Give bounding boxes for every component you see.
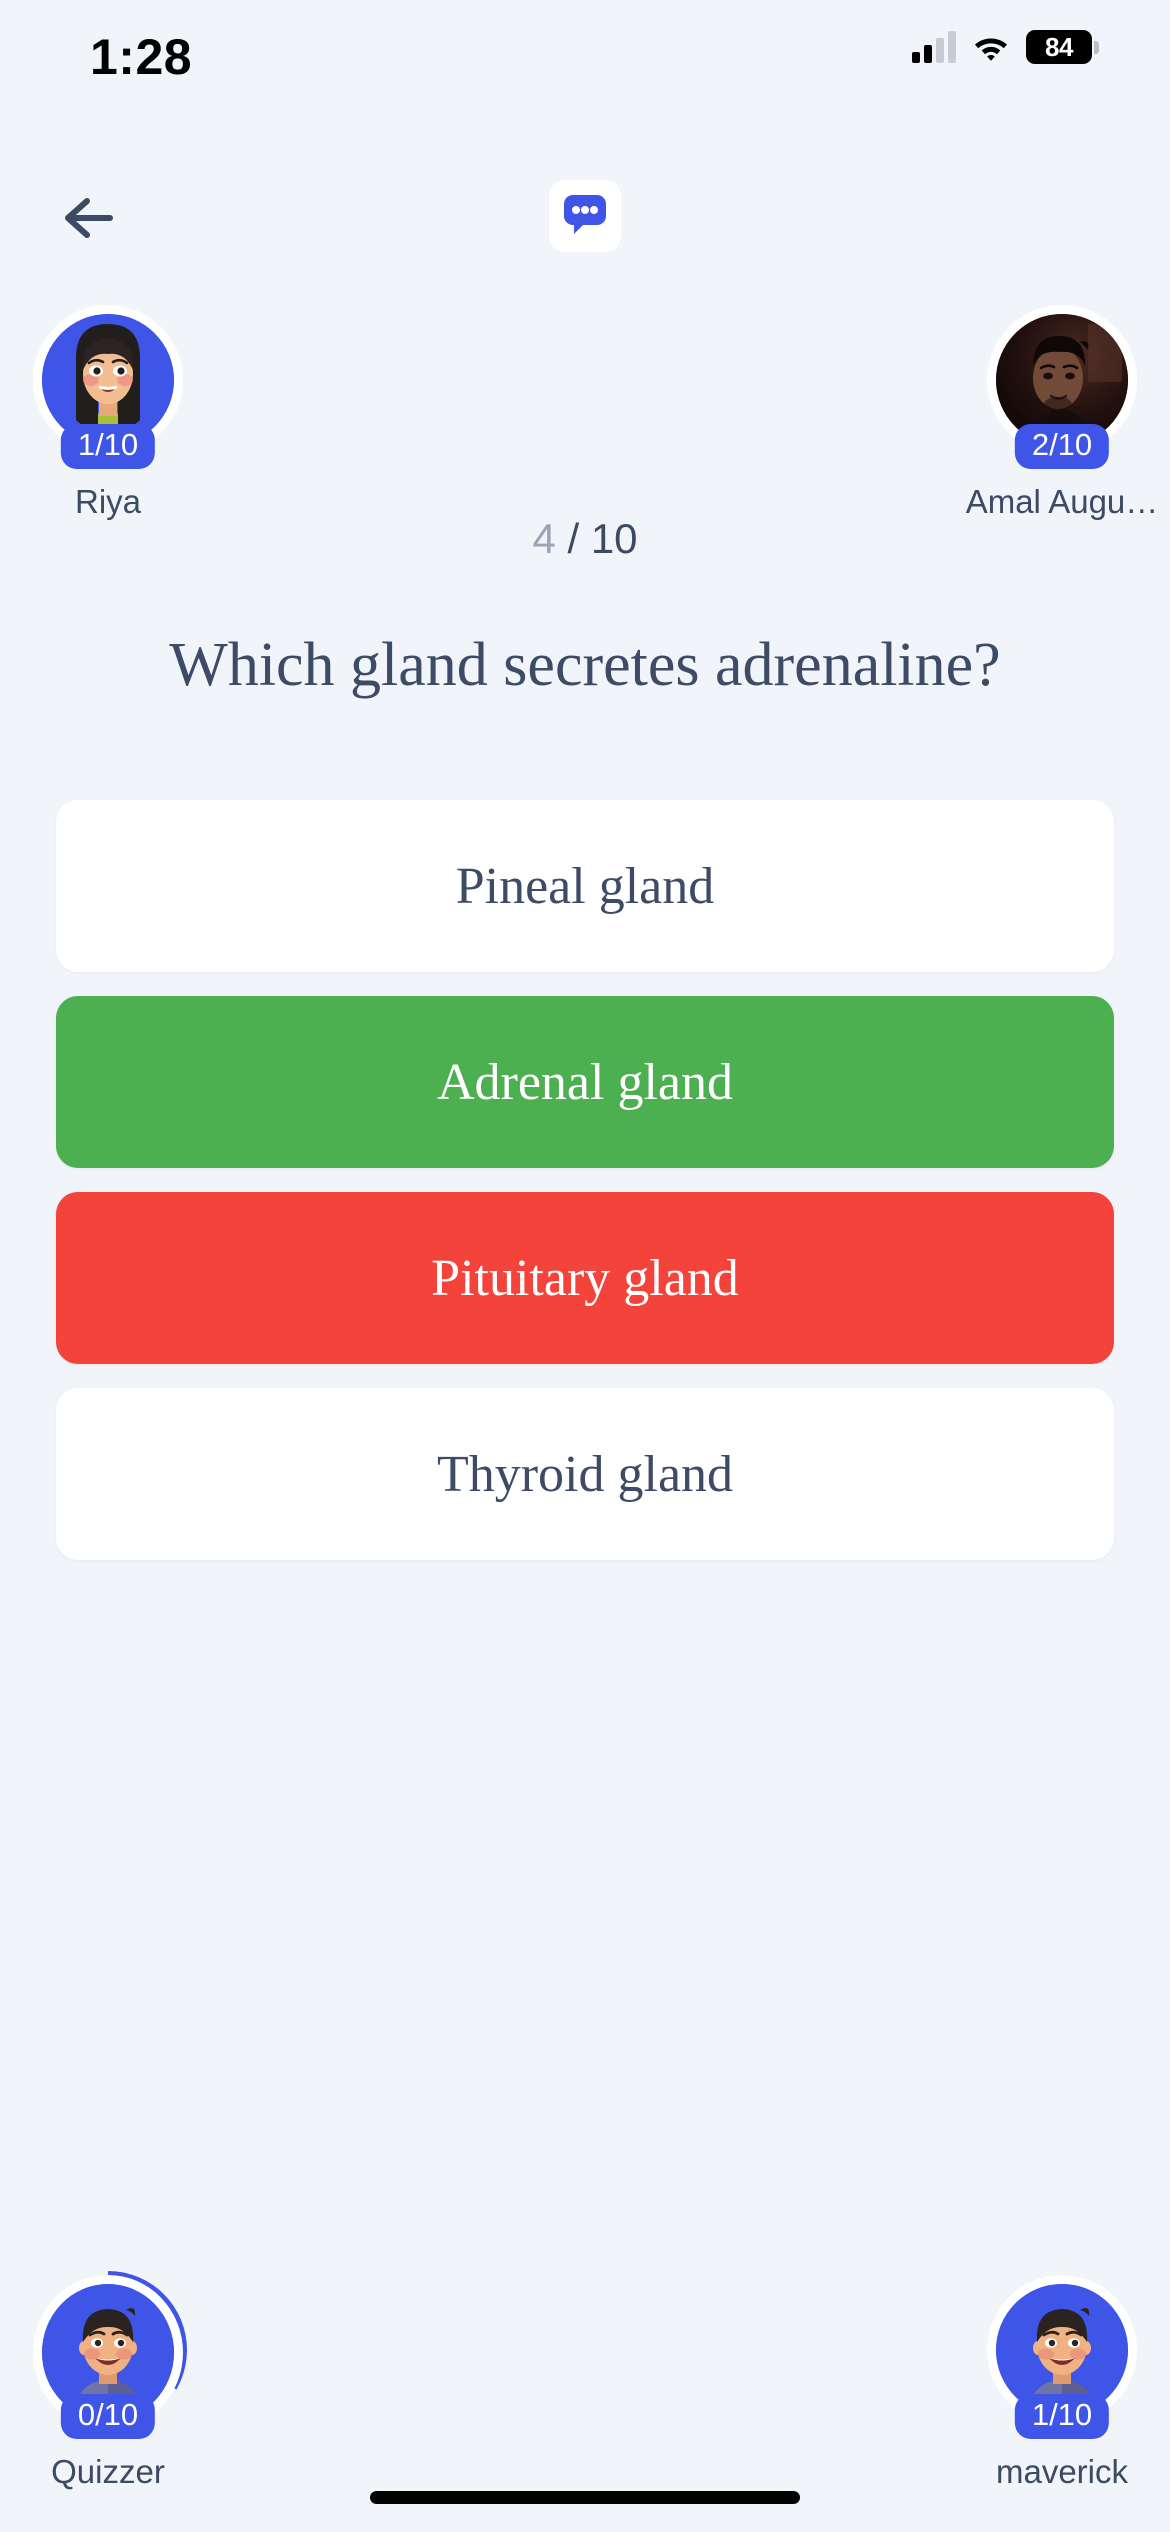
answer-option-4[interactable]: Thyroid gland bbox=[56, 1388, 1114, 1560]
chat-bubble-icon bbox=[561, 191, 609, 242]
player-score-badge: 2/10 bbox=[1015, 424, 1109, 469]
avatar: 1/10 bbox=[33, 305, 183, 455]
answer-option-2[interactable]: Adrenal gland bbox=[56, 996, 1114, 1168]
avatar: 1/10 bbox=[987, 2275, 1137, 2425]
player-bottom-right[interactable]: 1/10 maverick bbox=[942, 2275, 1170, 2491]
player-score-badge: 1/10 bbox=[1015, 2394, 1109, 2439]
answer-option-1[interactable]: Pineal gland bbox=[56, 800, 1114, 972]
total-questions-label: / 10 bbox=[567, 515, 637, 562]
player-top-right[interactable]: 2/10 Amal Augu… bbox=[942, 305, 1170, 521]
question-counter: 4 / 10 bbox=[0, 515, 1170, 563]
back-arrow-icon bbox=[62, 195, 118, 246]
answer-options-list: Pineal gland Adrenal gland Pituitary gla… bbox=[56, 800, 1114, 1584]
player-name: Quizzer bbox=[51, 2453, 165, 2491]
player-bottom-left[interactable]: 0/10 Quizzer bbox=[0, 2275, 228, 2491]
player-score-badge: 0/10 bbox=[61, 2394, 155, 2439]
question-text: Which gland secretes adrenaline? bbox=[55, 630, 1115, 701]
player-top-left[interactable]: 1/10 Riya bbox=[0, 305, 228, 521]
top-nav-bar bbox=[0, 185, 1170, 270]
player-name: maverick bbox=[996, 2453, 1128, 2491]
quiz-screen: 1:28 84 bbox=[0, 0, 1170, 2532]
status-bar-indicators: 84 bbox=[912, 30, 1092, 64]
avatar: 2/10 bbox=[987, 305, 1137, 455]
battery-level-label: 84 bbox=[1045, 32, 1073, 63]
battery-icon: 84 bbox=[1026, 30, 1092, 64]
home-indicator[interactable] bbox=[370, 2491, 800, 2504]
current-question-number: 4 bbox=[532, 515, 555, 562]
player-score-badge: 1/10 bbox=[61, 424, 155, 469]
chat-button[interactable] bbox=[549, 180, 621, 252]
answer-option-3[interactable]: Pituitary gland bbox=[56, 1192, 1114, 1364]
back-button[interactable] bbox=[50, 185, 130, 255]
avatar: 0/10 bbox=[33, 2275, 183, 2425]
cellular-signal-icon bbox=[912, 31, 956, 63]
status-bar-time: 1:28 bbox=[90, 28, 192, 86]
status-bar: 1:28 84 bbox=[0, 0, 1170, 110]
wifi-icon bbox=[972, 32, 1010, 62]
